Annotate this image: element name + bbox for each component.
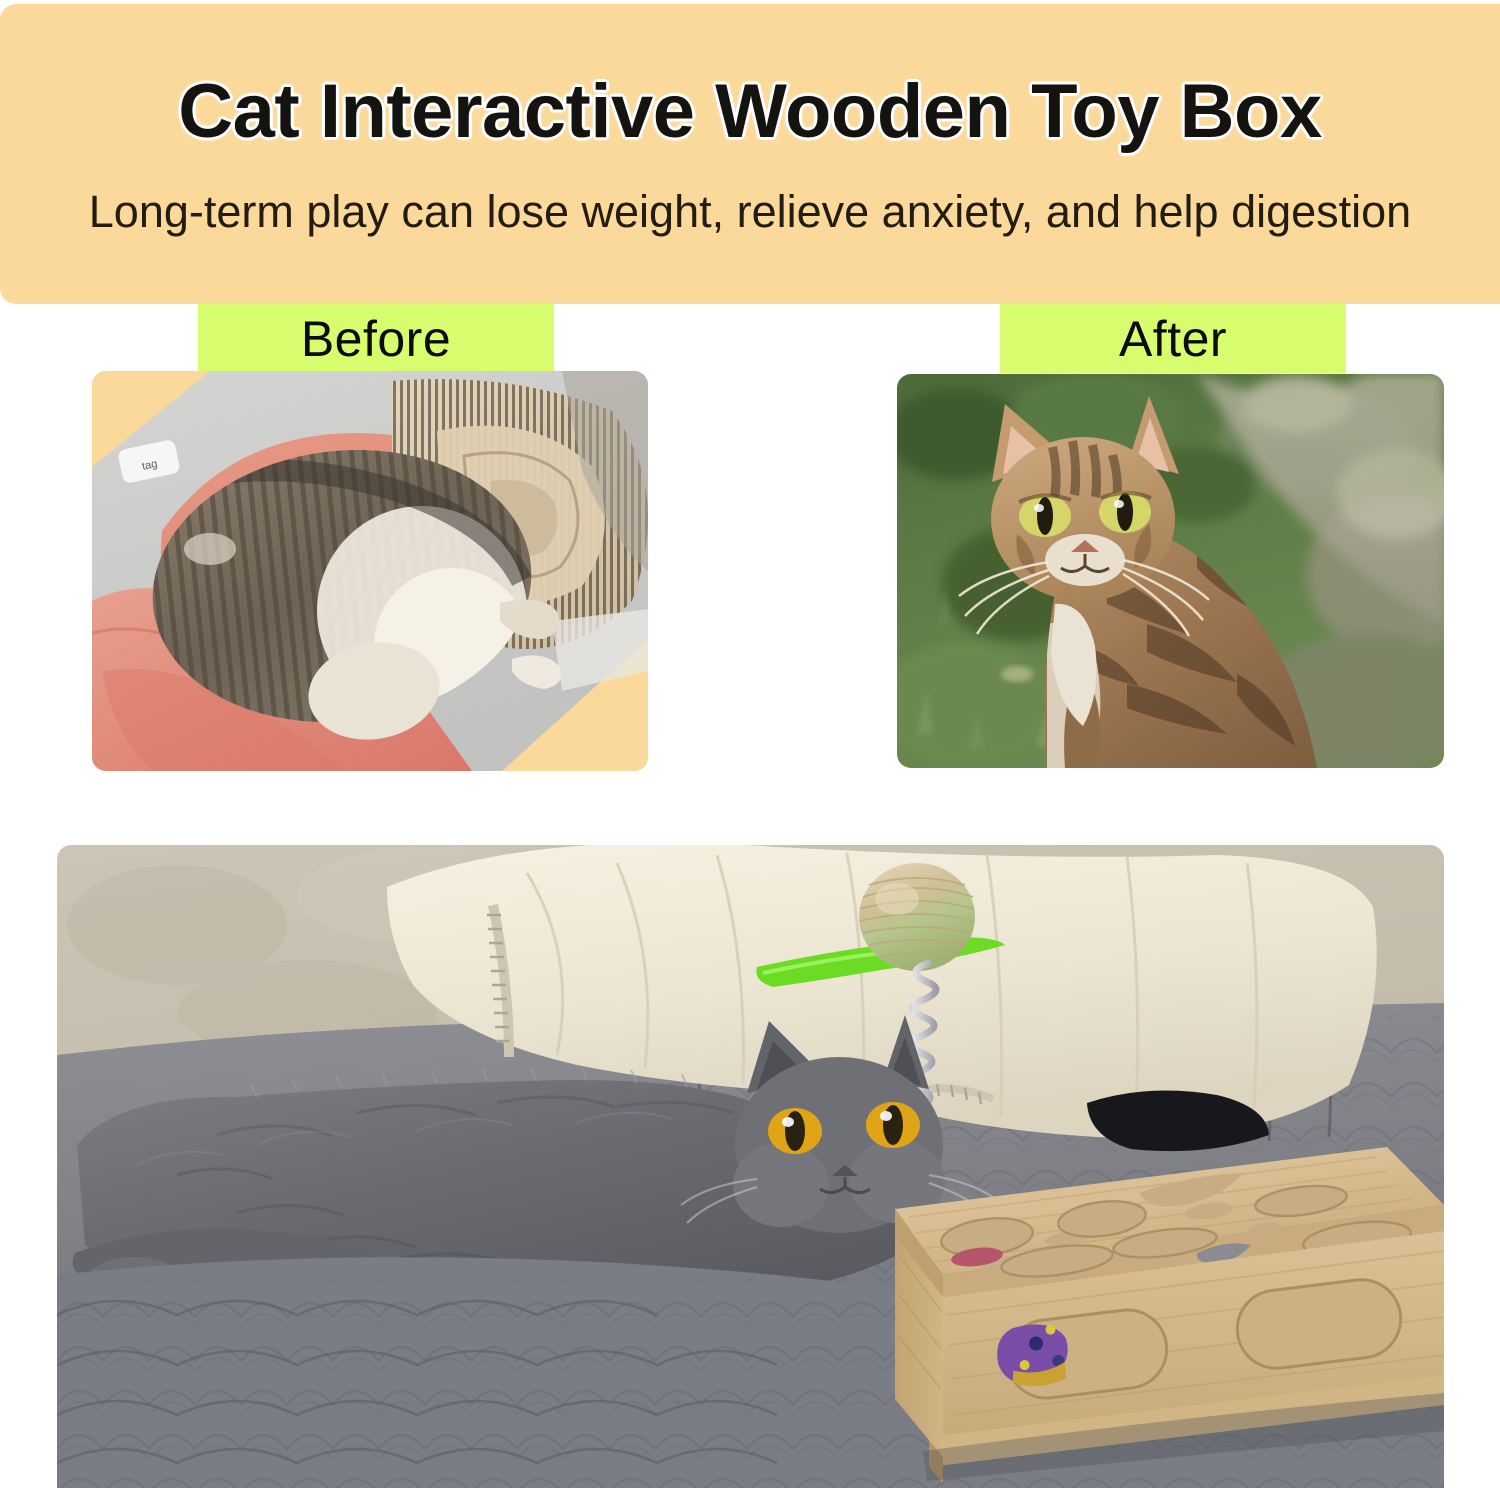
before-label: Before xyxy=(198,304,554,373)
main-photo-illustration xyxy=(57,845,1444,1488)
page-subtitle: Long-term play can lose weight, relieve … xyxy=(0,186,1500,238)
before-photo: tag xyxy=(92,371,648,771)
page-title: Cat Interactive Wooden Toy Box xyxy=(0,68,1500,155)
after-photo xyxy=(897,374,1444,768)
after-label: After xyxy=(1000,304,1346,373)
header-banner: Cat Interactive Wooden Toy Box Long-term… xyxy=(0,4,1500,304)
after-photo-illustration xyxy=(897,374,1444,768)
before-photo-illustration: tag xyxy=(92,371,648,771)
main-product-photo xyxy=(57,845,1444,1488)
